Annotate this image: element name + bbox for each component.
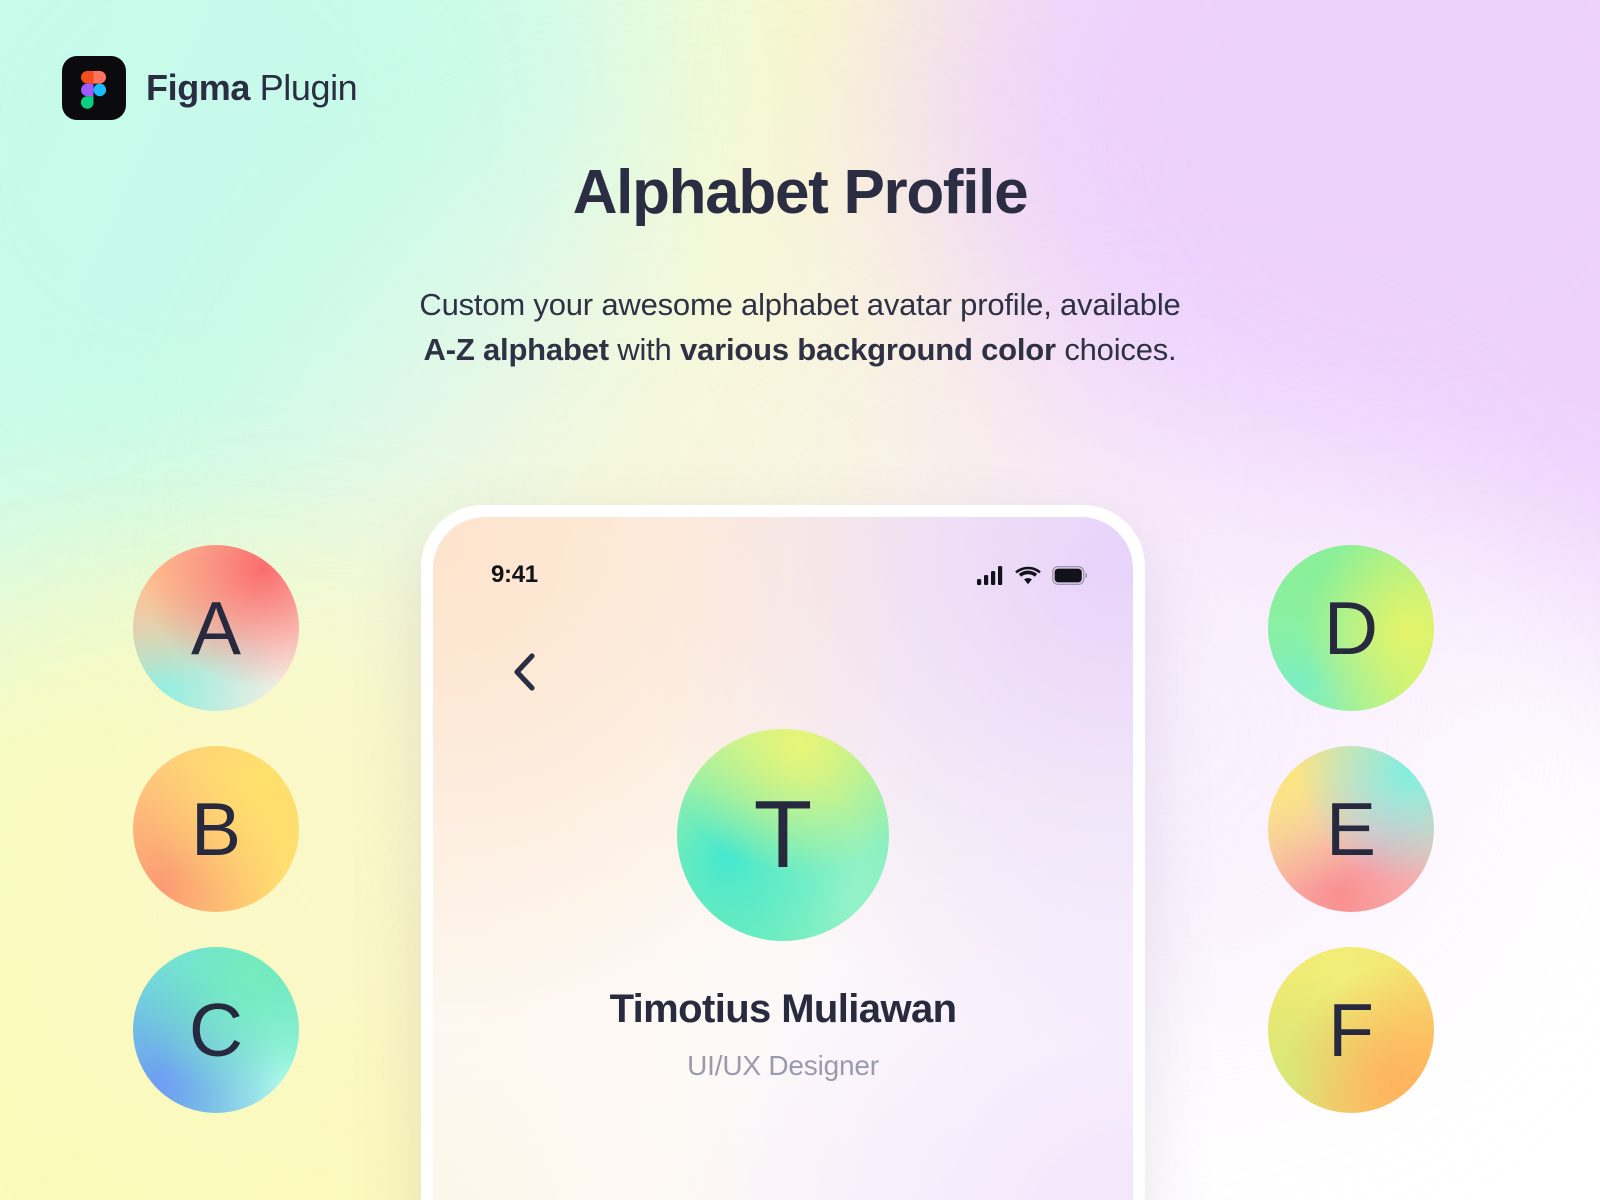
brand-name-bold: Figma [146, 67, 250, 108]
avatar-column-left: A B C [133, 545, 299, 1113]
avatar-letter-e[interactable]: E [1268, 746, 1434, 912]
avatar-letter-c[interactable]: C [133, 947, 299, 1113]
page-subtitle: Custom your awesome alphabet avatar prof… [0, 283, 1600, 373]
battery-icon [1052, 566, 1087, 585]
subtitle-bold-background-color: various background color [680, 332, 1056, 367]
back-button[interactable] [501, 645, 547, 699]
phone-screen: 9:41 [433, 517, 1133, 1200]
subtitle-choices: choices. [1056, 332, 1177, 367]
chevron-left-icon [513, 653, 535, 691]
avatar-letter-f[interactable]: F [1268, 947, 1434, 1113]
canvas: Figma Plugin Alphabet Profile Custom you… [0, 0, 1600, 1200]
phone-mockup: 9:41 [421, 505, 1145, 1200]
brand-header: Figma Plugin [62, 56, 357, 120]
brand-name: Figma Plugin [146, 67, 357, 109]
avatar-letter-b[interactable]: B [133, 746, 299, 912]
cellular-signal-icon [977, 566, 1004, 585]
hero-section: Alphabet Profile Custom your awesome alp… [0, 160, 1600, 373]
avatar-letter-t[interactable]: T [677, 729, 889, 941]
avatar-letter-d[interactable]: D [1268, 545, 1434, 711]
status-bar-icons [977, 566, 1087, 585]
subtitle-with: with [609, 332, 680, 367]
status-bar-time: 9:41 [491, 561, 538, 589]
figma-logo-icon [62, 56, 126, 120]
subtitle-line-2: A-Z alphabet with various background col… [0, 328, 1600, 373]
brand-name-light: Plugin [250, 67, 357, 108]
subtitle-bold-alphabet: A-Z alphabet [424, 332, 609, 367]
status-bar: 9:41 [433, 561, 1133, 589]
wifi-icon [1015, 566, 1041, 585]
avatar-letter-a[interactable]: A [133, 545, 299, 711]
profile-name: Timotius Muliawan [610, 987, 957, 1032]
page-title: Alphabet Profile [0, 160, 1600, 225]
avatar-column-right: D E F [1268, 545, 1434, 1113]
profile-card: T Timotius Muliawan UI/UX Designer [433, 729, 1133, 1082]
subtitle-line-1: Custom your awesome alphabet avatar prof… [0, 283, 1600, 328]
profile-role: UI/UX Designer [687, 1050, 879, 1082]
